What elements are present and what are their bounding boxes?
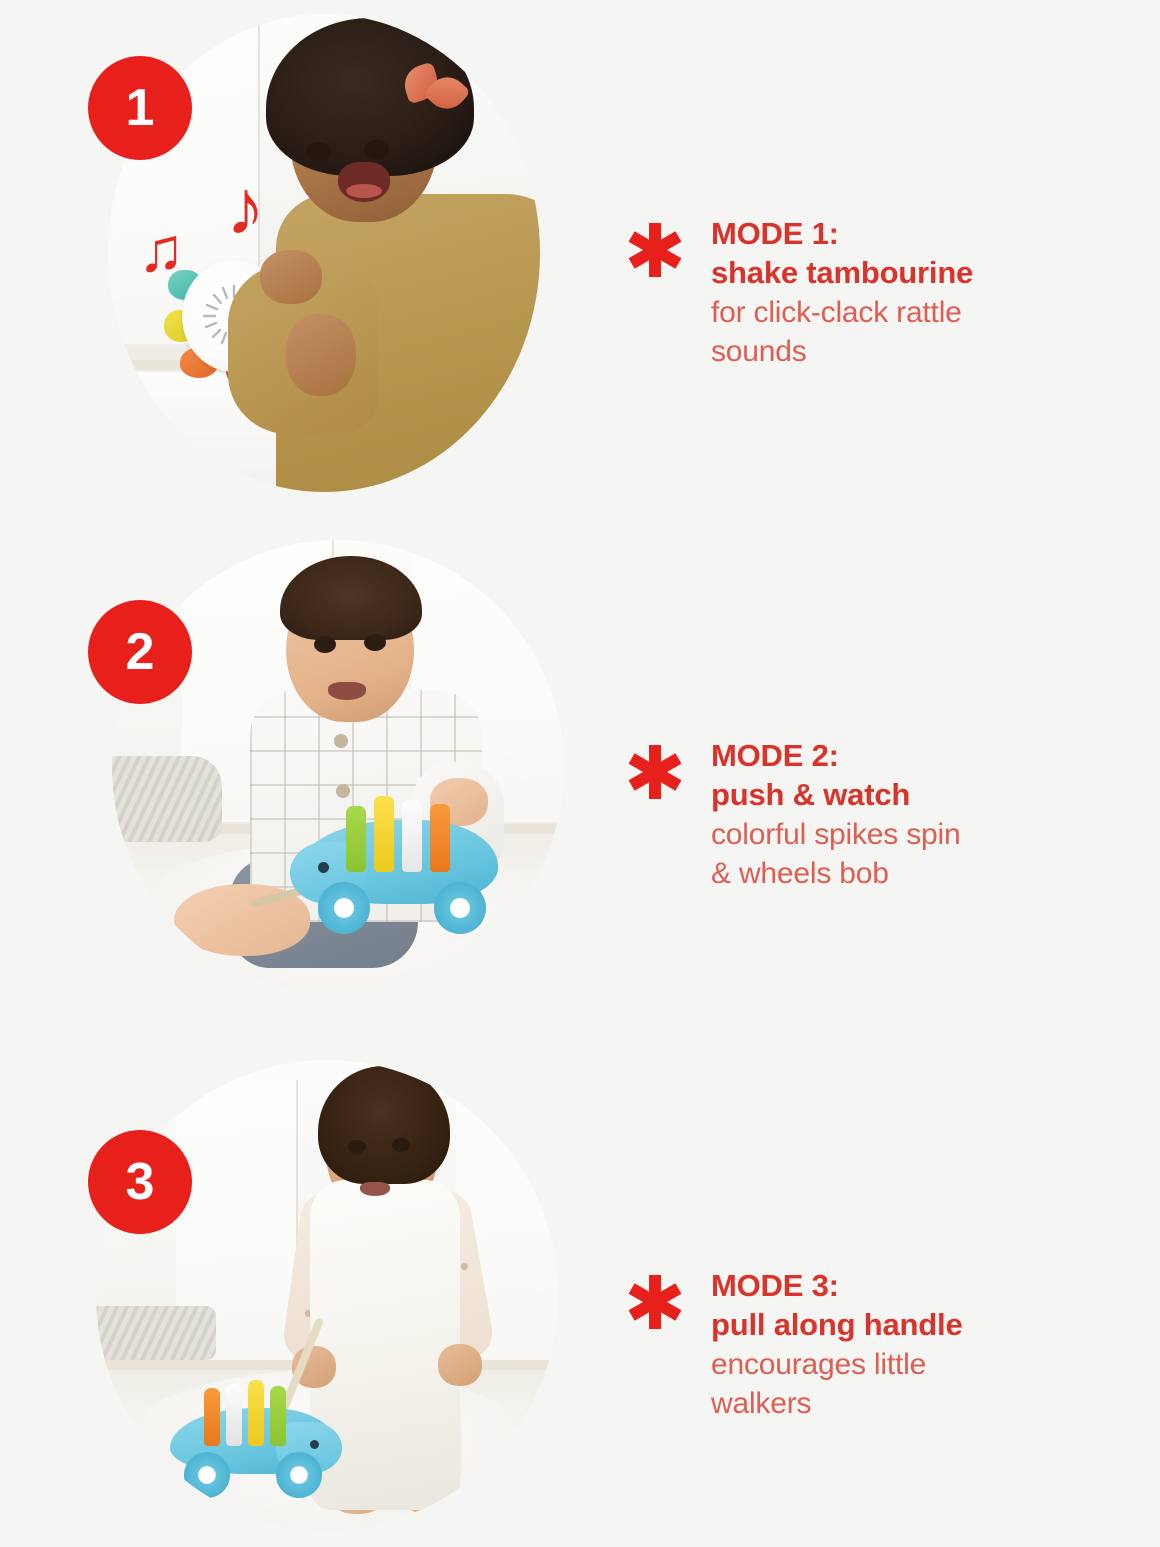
asterisk-icon [625, 1272, 685, 1332]
dino-wheel [318, 882, 370, 934]
music-note-icon: ♪ [226, 168, 265, 246]
shirt-button [334, 734, 348, 748]
mode-2-title: MODE 2: [711, 736, 1095, 775]
mode-2-description-line-2: & wheels bob [711, 854, 1095, 893]
dino-push-toy [294, 786, 524, 956]
mode-2-copy: MODE 2: push & watch colorful spikes spi… [711, 736, 1095, 893]
asterisk-icon [625, 220, 685, 280]
toddler-hand [438, 1344, 482, 1386]
mode-3-action: pull along handle [711, 1305, 1095, 1344]
asterisk-icon [625, 742, 685, 802]
mode-1-action: shake tambourine [711, 253, 1095, 292]
dino-pull-toy [168, 1360, 368, 1510]
mode-1-title: MODE 1: [711, 214, 1095, 253]
toddler-eye [348, 1140, 366, 1154]
mode-3-copy: MODE 3: pull along handle encourages lit… [711, 1266, 1095, 1423]
mode-block-3: 3 MODE 3: pull along handle encourages l… [0, 1050, 1160, 1547]
mode-1-text-block: MODE 1: shake tambourine for click-clack… [625, 214, 1095, 371]
mode-2-action: push & watch [711, 775, 1095, 814]
mode-1-description-line-1: for click-clack rattle [711, 293, 1095, 332]
dino-spike [402, 800, 422, 872]
baby-eye [314, 636, 336, 653]
mode-block-1: ♪ ♫ [0, 0, 1160, 520]
badge-number: 2 [126, 626, 155, 678]
dino-spike [346, 806, 366, 872]
badge-number: 1 [126, 82, 155, 134]
mode-2-text-block: MODE 2: push & watch colorful spikes spi… [625, 736, 1095, 893]
baby-hand [286, 314, 356, 396]
badge-number: 3 [126, 1156, 155, 1208]
step-number-badge-1: 1 [88, 56, 192, 160]
baby-mouth [328, 682, 366, 700]
product-modes-infographic: ♪ ♫ [0, 0, 1160, 1547]
toddler-eye [392, 1138, 410, 1152]
baby-eye [306, 142, 331, 161]
mode-1-description-line-2: sounds [711, 332, 1095, 371]
mode-3-description-line-2: walkers [711, 1384, 1095, 1423]
mode-3-description-line-1: encourages little [711, 1345, 1095, 1384]
dino-spike [204, 1388, 220, 1446]
dino-wheel [434, 882, 486, 934]
mode-1-copy: MODE 1: shake tambourine for click-clack… [711, 214, 1095, 371]
photo-2-scene [112, 540, 564, 995]
hair-bow [404, 60, 470, 122]
baby-hand [260, 250, 322, 304]
floor-cushion [112, 756, 222, 842]
dino-wheel [184, 1452, 230, 1498]
dino-spike [270, 1386, 286, 1446]
dino-spike [374, 796, 394, 872]
step-number-badge-3: 3 [88, 1130, 192, 1234]
baby-pushing-dino-photo [112, 540, 564, 995]
dino-wheel [276, 1452, 322, 1498]
mode-2-description-line-1: colorful spikes spin [711, 815, 1095, 854]
dino-spike [226, 1384, 242, 1446]
toddler-mouth [360, 1182, 390, 1196]
toddler-pulling-dino-photo [96, 1060, 558, 1530]
dino-eye [318, 862, 329, 873]
baby-mouth [338, 162, 390, 202]
dino-spike [430, 804, 450, 872]
dino-spike [248, 1380, 264, 1446]
mode-block-2: 2 MODE 2: push & watch colorful spikes s… [0, 520, 1160, 1050]
mode-3-text-block: MODE 3: pull along handle encourages lit… [625, 1266, 1095, 1423]
dino-eye [310, 1440, 319, 1449]
step-number-badge-2: 2 [88, 600, 192, 704]
baby-eye [364, 634, 386, 651]
mode-3-title: MODE 3: [711, 1266, 1095, 1305]
baby-eye [364, 140, 389, 159]
floor-cushion [96, 1306, 216, 1360]
photo-3-scene [96, 1060, 558, 1530]
